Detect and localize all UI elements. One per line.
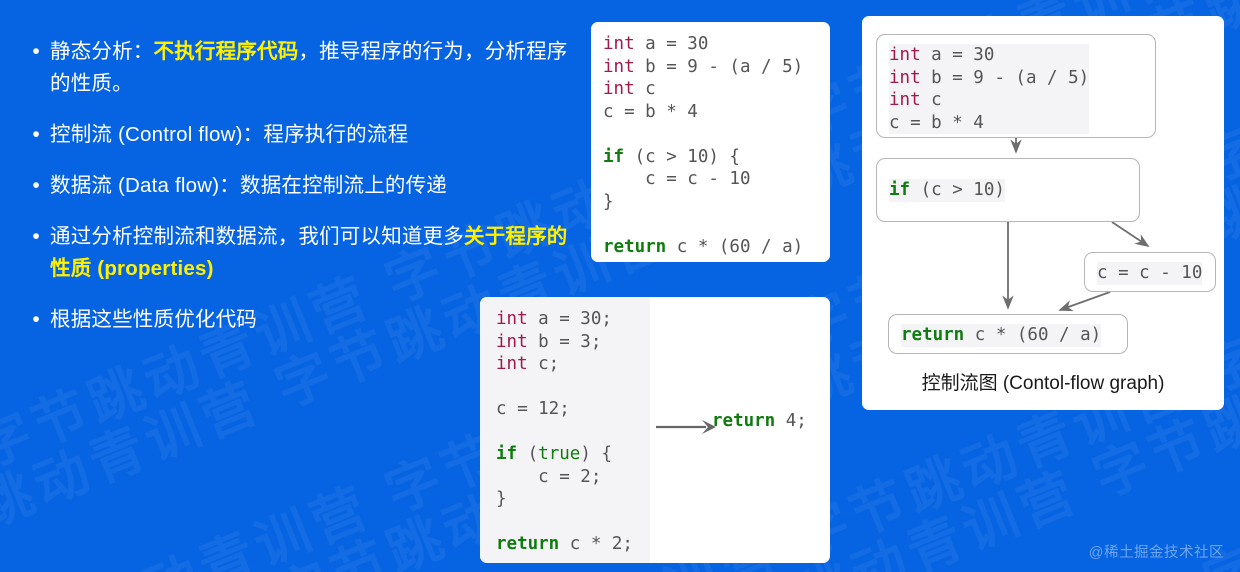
code-token: if — [496, 444, 517, 464]
bullet-text: 根据这些性质优化代码 — [50, 304, 257, 336]
bullet-highlight: 不执行程序代码 — [154, 40, 299, 63]
code-block-bottom: int a = 30; int b = 3; int c; c = 12; if… — [496, 308, 633, 556]
code-token: c * (60 / a) — [666, 237, 803, 257]
bullet-segment: 数据流 (Data flow)：数据在控制流上的传递 — [50, 174, 447, 197]
code-panel-top: int a = 30 int b = 9 - (a / 5) int c c =… — [591, 22, 830, 262]
bullet-text: 数据流 (Data flow)：数据在控制流上的传递 — [50, 170, 447, 202]
code-token: c — [635, 79, 656, 99]
code-token: (c > 10) — [910, 180, 1005, 200]
code-token: int — [603, 34, 635, 54]
code-token: c — [921, 90, 942, 110]
code-token: ( — [517, 444, 538, 464]
code-token: } — [603, 192, 614, 212]
code-token: int — [889, 45, 921, 65]
code-token: b = 9 - (a / 5) — [635, 57, 804, 77]
code-token: c = 2; — [496, 467, 601, 487]
bullet-dot-icon: • — [22, 119, 50, 151]
code-token: return — [603, 237, 666, 257]
code-token: true — [538, 444, 580, 464]
code-token: int — [603, 57, 635, 77]
bullet-item: •数据流 (Data flow)：数据在控制流上的传递 — [22, 170, 582, 202]
bullet-segment: 根据这些性质优化代码 — [50, 308, 257, 331]
code-token: } — [496, 489, 507, 509]
cfg-node-return-code: return c * (60 / a) — [901, 324, 1101, 347]
bullet-segment: 控制流 (Control flow)：程序执行的流程 — [50, 123, 408, 146]
code-token: int — [889, 68, 921, 88]
code-block-top: int a = 30 int b = 9 - (a / 5) int c c =… — [603, 33, 803, 258]
control-flow-graph-panel: int a = 30 int b = 9 - (a / 5) int c c =… — [862, 16, 1224, 410]
code-token: c * (60 / a) — [964, 325, 1101, 345]
code-token: c = b * 4 — [889, 113, 984, 133]
code-token: if — [603, 147, 624, 167]
code-token: c = c - 10 — [1097, 263, 1202, 283]
code-token: ) { — [580, 444, 612, 464]
code-token: a = 30; — [528, 309, 612, 329]
bullet-segment: 通过分析控制流和数据流，我们可以知道更多 — [50, 225, 464, 248]
code-token: int — [496, 354, 528, 374]
code-token: b = 9 - (a / 5) — [921, 68, 1090, 88]
bullet-text: 静态分析：不执行程序代码，推导程序的行为，分析程序的性质。 — [50, 36, 582, 100]
bullet-item: •静态分析：不执行程序代码，推导程序的行为，分析程序的性质。 — [22, 36, 582, 100]
code-token: int — [889, 90, 921, 110]
bullet-item: •控制流 (Control flow)：程序执行的流程 — [22, 119, 582, 151]
code-token: c; — [528, 354, 560, 374]
code-token: (c > 10) { — [624, 147, 740, 167]
code-tint-background: int a = 30; int b = 3; int c; c = 12; if… — [480, 297, 650, 563]
code-token: a = 30 — [635, 34, 709, 54]
code-result-line: return 4; — [712, 410, 807, 432]
code-token: c * 2; — [559, 534, 633, 554]
cfg-node-if: if (c > 10) — [876, 158, 1140, 222]
bullet-dot-icon: • — [22, 170, 50, 202]
code-token: return — [496, 534, 559, 554]
cfg-node-decrement: c = c - 10 — [1084, 252, 1216, 292]
bullet-text: 控制流 (Control flow)：程序执行的流程 — [50, 119, 408, 151]
cfg-node-decrement-code: c = c - 10 — [1097, 262, 1202, 285]
code-token: c = c - 10 — [603, 169, 751, 189]
code-panel-bottom: int a = 30; int b = 3; int c; c = 12; if… — [480, 297, 830, 563]
code-token: b = 3; — [528, 332, 602, 352]
code-token: int — [603, 79, 635, 99]
cfg-caption: 控制流图 (Contol-flow graph) — [862, 368, 1224, 395]
code-token: if — [889, 180, 910, 200]
cfg-node-entry-code: int a = 30 int b = 9 - (a / 5) int c c =… — [889, 44, 1089, 134]
code-token: return — [901, 325, 964, 345]
code-token: int — [496, 309, 528, 329]
bullet-dot-icon: • — [22, 304, 50, 336]
bullet-dot-icon: • — [22, 221, 50, 253]
cfg-node-if-code: if (c > 10) — [889, 179, 1005, 202]
cfg-node-return: return c * (60 / a) — [888, 314, 1128, 354]
code-token: return — [712, 411, 775, 431]
bullet-item: •通过分析控制流和数据流，我们可以知道更多关于程序的性质 (properties… — [22, 221, 582, 285]
cfg-node-entry: int a = 30 int b = 9 - (a / 5) int c c =… — [876, 34, 1156, 138]
code-token: c = b * 4 — [603, 102, 698, 122]
bullet-text: 通过分析控制流和数据流，我们可以知道更多关于程序的性质 (properties) — [50, 221, 582, 285]
code-token: a = 30 — [921, 45, 995, 65]
code-token: int — [496, 332, 528, 352]
code-token: c = 12; — [496, 399, 570, 419]
bullet-dot-icon: • — [22, 36, 50, 68]
corner-watermark: @稀土掘金技术社区 — [1089, 541, 1224, 562]
bullet-segment: 静态分析： — [50, 40, 154, 63]
code-token: 4; — [775, 411, 807, 431]
